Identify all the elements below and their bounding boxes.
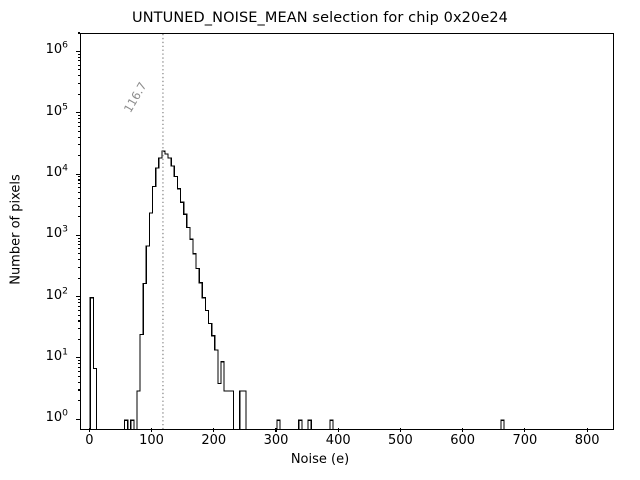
- y-minor-tick-mark: [78, 302, 80, 303]
- y-minor-tick-mark: [78, 137, 80, 138]
- y-minor-tick-mark: [78, 183, 80, 184]
- y-minor-tick-mark: [78, 115, 80, 116]
- y-minor-tick-mark: [78, 244, 80, 245]
- x-tick-mark: [400, 428, 401, 432]
- y-tick-label: 103: [46, 226, 68, 244]
- y-minor-tick-mark: [78, 54, 80, 55]
- x-tick-mark: [338, 428, 339, 432]
- y-tick-mark: [76, 235, 80, 236]
- x-tick-label: 700: [495, 433, 555, 448]
- y-minor-tick-mark: [78, 241, 80, 242]
- x-tick-mark: [151, 428, 152, 432]
- y-tick-mark: [76, 419, 80, 420]
- y-tick-mark: [76, 112, 80, 113]
- x-tick-label: 0: [59, 433, 119, 448]
- y-minor-tick-mark: [78, 310, 80, 311]
- x-axis-label: Noise (e): [0, 452, 640, 467]
- x-tick-label: 400: [308, 433, 368, 448]
- y-minor-tick-mark: [78, 75, 80, 76]
- y-minor-tick-mark: [78, 320, 80, 321]
- y-minor-tick-mark: [78, 376, 80, 377]
- x-tick-label: 500: [370, 433, 430, 448]
- x-tick-mark: [462, 428, 463, 432]
- y-minor-tick-mark: [78, 248, 80, 249]
- y-tick-mark: [76, 51, 80, 52]
- y-minor-tick-mark: [78, 306, 80, 307]
- y-minor-tick-mark: [78, 192, 80, 193]
- x-tick-mark: [587, 428, 588, 432]
- y-minor-tick-mark: [78, 367, 80, 368]
- histogram-series: [81, 34, 613, 429]
- y-minor-tick-mark: [78, 176, 80, 177]
- y-minor-tick-mark: [78, 278, 80, 279]
- y-tick-label: 101: [46, 349, 68, 367]
- y-minor-tick-mark: [78, 371, 80, 372]
- y-minor-tick-mark: [78, 60, 80, 61]
- y-minor-tick-mark: [78, 122, 80, 123]
- y-minor-tick-mark: [78, 179, 80, 180]
- x-tick-mark: [524, 428, 525, 432]
- y-tick-label: 100: [46, 410, 68, 428]
- y-minor-tick-mark: [78, 400, 80, 401]
- chart-title: UNTUNED_NOISE_MEAN selection for chip 0x…: [0, 10, 640, 26]
- histogram-figure: UNTUNED_NOISE_MEAN selection for chip 0x…: [0, 0, 640, 480]
- y-minor-tick-mark: [78, 83, 80, 84]
- y-minor-tick-mark: [78, 360, 80, 361]
- y-minor-tick-mark: [78, 299, 80, 300]
- y-minor-tick-mark: [78, 65, 80, 66]
- y-minor-tick-mark: [78, 32, 80, 33]
- y-tick-mark: [76, 174, 80, 175]
- x-tick-mark: [213, 428, 214, 432]
- y-minor-tick-mark: [78, 155, 80, 156]
- y-minor-tick-mark: [78, 259, 80, 260]
- y-minor-tick-mark: [78, 328, 80, 329]
- histogram-outline: [90, 151, 504, 429]
- y-minor-tick-mark: [78, 315, 80, 316]
- x-tick-mark: [275, 428, 276, 432]
- y-minor-tick-mark: [78, 187, 80, 188]
- y-minor-tick-mark: [78, 57, 80, 58]
- x-tick-label: 200: [184, 433, 244, 448]
- y-minor-tick-mark: [78, 126, 80, 127]
- plot-area: [80, 33, 614, 430]
- y-tick-label: 102: [46, 288, 68, 306]
- y-tick-mark: [76, 296, 80, 297]
- y-minor-tick-mark: [78, 267, 80, 268]
- y-minor-tick-mark: [78, 69, 80, 70]
- y-minor-tick-mark: [78, 118, 80, 119]
- x-tick-mark: [89, 428, 90, 432]
- x-tick-label: 300: [246, 433, 306, 448]
- y-minor-tick-mark: [78, 389, 80, 390]
- x-tick-label: 600: [433, 433, 493, 448]
- y-minor-tick-mark: [78, 206, 80, 207]
- y-minor-tick-mark: [78, 339, 80, 340]
- y-tick-label: 105: [46, 104, 68, 122]
- y-minor-tick-mark: [78, 198, 80, 199]
- x-tick-label: 100: [122, 433, 182, 448]
- y-minor-tick-mark: [78, 216, 80, 217]
- y-minor-tick-mark: [78, 253, 80, 254]
- y-tick-label: 104: [46, 165, 68, 183]
- y-tick-label: 106: [46, 42, 68, 60]
- y-minor-tick-mark: [78, 238, 80, 239]
- y-minor-tick-mark: [78, 94, 80, 95]
- y-minor-tick-mark: [78, 382, 80, 383]
- y-tick-mark: [76, 357, 80, 358]
- y-minor-tick-mark: [78, 144, 80, 145]
- plot-inner: [81, 34, 613, 429]
- y-minor-tick-mark: [78, 131, 80, 132]
- x-tick-label: 800: [557, 433, 617, 448]
- y-axis-label: Number of pixels: [9, 130, 24, 330]
- y-minor-tick-mark: [78, 363, 80, 364]
